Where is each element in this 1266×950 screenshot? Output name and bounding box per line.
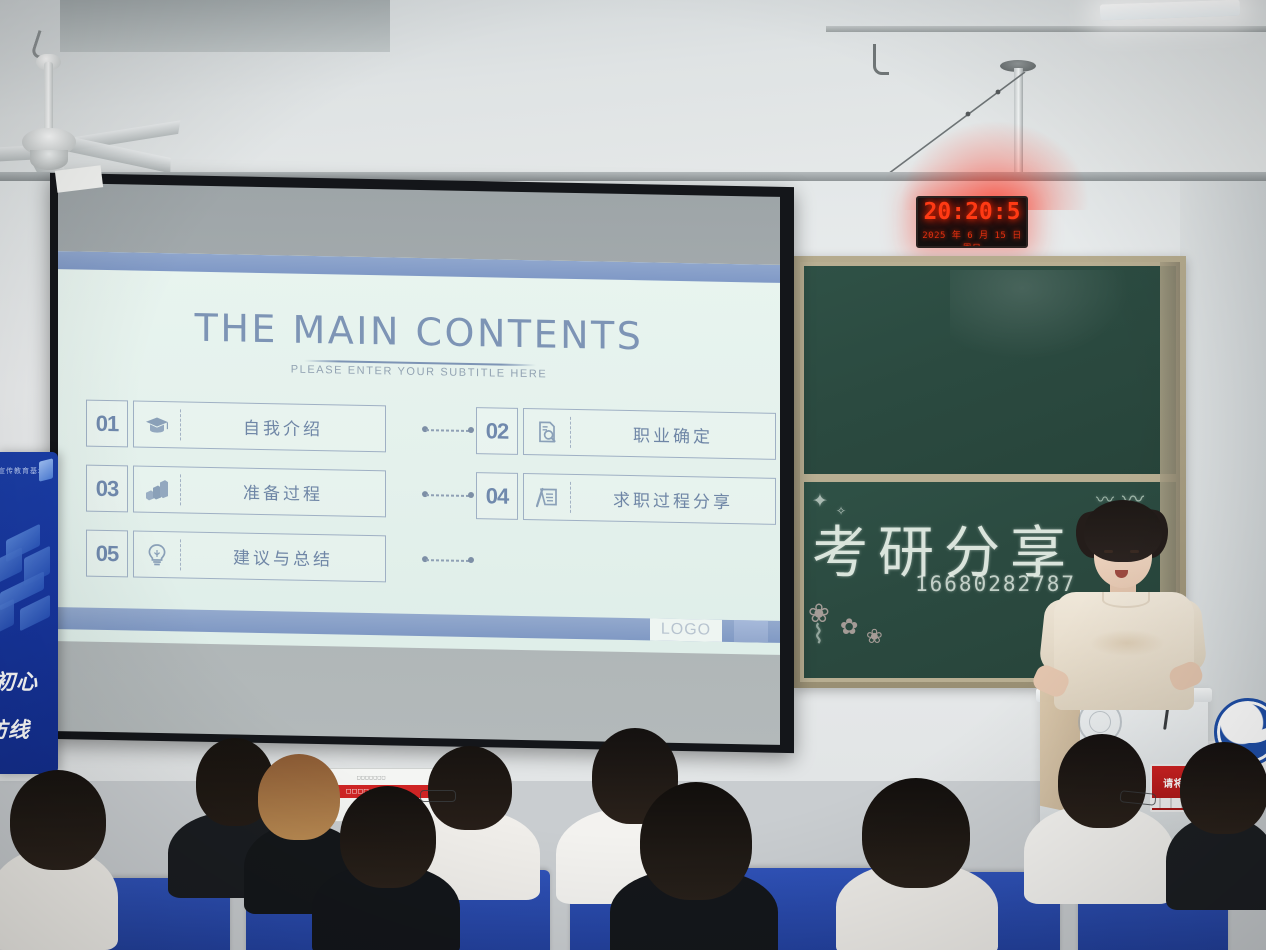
item-label: 准备过程 — [181, 477, 385, 506]
connector-line — [420, 471, 476, 519]
ceiling-hook-right — [873, 44, 889, 75]
audience-member-head — [1180, 742, 1266, 834]
audience-member-head — [862, 778, 970, 888]
audience-member-head — [640, 782, 752, 900]
presentation-slide: THE MAIN CONTENTS PLEASE ENTER YOUR SUBT… — [58, 251, 780, 655]
item-label: 求职过程分享 — [571, 485, 775, 514]
item-number: 03 — [86, 465, 128, 513]
item-number: 01 — [86, 400, 128, 448]
audience — [0, 720, 1266, 950]
audience-member-head — [1058, 734, 1146, 828]
presenter-eye — [1130, 550, 1139, 553]
connector-dashes — [426, 494, 470, 496]
audience-member-head — [340, 786, 436, 888]
classroom-scene: 20:20:5 2025 年 6 月 15 日 周日 ✦ ✧ 〰 〰 考研分享 … — [0, 0, 1266, 950]
document-pen-icon — [524, 486, 570, 509]
bar-chart-icon — [134, 478, 180, 501]
connector-dashes — [426, 559, 470, 561]
ceiling-beam-right — [826, 26, 1266, 32]
slide-bottom-accent-right — [734, 620, 768, 643]
chalk-flower-icon: ❀ — [866, 624, 883, 649]
content-item-04: 04 求职过程分享 — [476, 472, 776, 525]
clock-time: 20:20:5 — [918, 199, 1026, 225]
content-item-02: 02 职业确定 — [476, 407, 776, 460]
chalk-flower-icon: ✿ — [840, 614, 858, 640]
banner-line-1: 初心 — [0, 666, 38, 696]
item-label: 自我介绍 — [181, 412, 385, 441]
item-body: 建议与总结 — [133, 531, 386, 583]
eyeglasses-icon — [420, 790, 456, 802]
led-wall-clock: 20:20:5 2025 年 6 月 15 日 周日 — [916, 196, 1028, 248]
item-label: 职业确定 — [571, 420, 775, 449]
content-item-01: 01 自我介绍 — [86, 400, 386, 453]
clock-date: 2025 年 6 月 15 日 周日 — [918, 228, 1026, 248]
fan-rod — [44, 62, 53, 134]
blackboard-glare — [950, 270, 1130, 360]
item-body: 准备过程 — [133, 466, 386, 518]
connector-dot — [468, 557, 474, 563]
fan-cap — [30, 150, 68, 170]
item-number: 02 — [476, 407, 518, 455]
presenter-collar — [1102, 592, 1150, 608]
audience-member-head — [258, 754, 340, 840]
lightbulb-icon — [134, 542, 180, 567]
item-number: 04 — [476, 472, 518, 520]
connector-dashes — [426, 429, 470, 431]
presenter-shirt-print — [1090, 630, 1164, 656]
connector-line — [420, 536, 476, 584]
audience-member-head — [10, 770, 106, 870]
slide-title: THE MAIN CONTENTS — [58, 303, 780, 361]
graduation-cap-icon — [134, 414, 180, 435]
item-body: 职业确定 — [523, 408, 776, 460]
connector-line — [420, 406, 476, 454]
ceiling-panel — [60, 0, 390, 52]
contents-column-left: 01 自我介绍 03 — [86, 400, 386, 601]
presenter-hair — [1084, 500, 1162, 562]
banner-illustration — [0, 520, 58, 650]
connector-dot — [468, 427, 474, 433]
presenter — [1026, 500, 1202, 710]
contents-column-right: 02 职业确定 — [476, 407, 776, 543]
connector-dot — [468, 492, 474, 498]
item-body: 自我介绍 — [133, 401, 386, 453]
banner-icon — [39, 458, 53, 481]
item-body: 求职过程分享 — [523, 473, 776, 525]
audience-member-head — [428, 746, 512, 830]
item-number: 05 — [86, 530, 128, 578]
slide-contents-list: 01 自我介绍 03 — [58, 399, 780, 623]
content-item-05: 05 建议与总结 — [86, 530, 386, 583]
document-search-icon — [524, 420, 570, 445]
slide-logo-placeholder: LOGO — [650, 618, 722, 641]
presenter-eye — [1104, 550, 1113, 553]
chalk-stem: ⌇ — [812, 620, 825, 650]
content-item-03: 03 准备过程 — [86, 465, 386, 518]
item-label: 建议与总结 — [181, 542, 385, 571]
